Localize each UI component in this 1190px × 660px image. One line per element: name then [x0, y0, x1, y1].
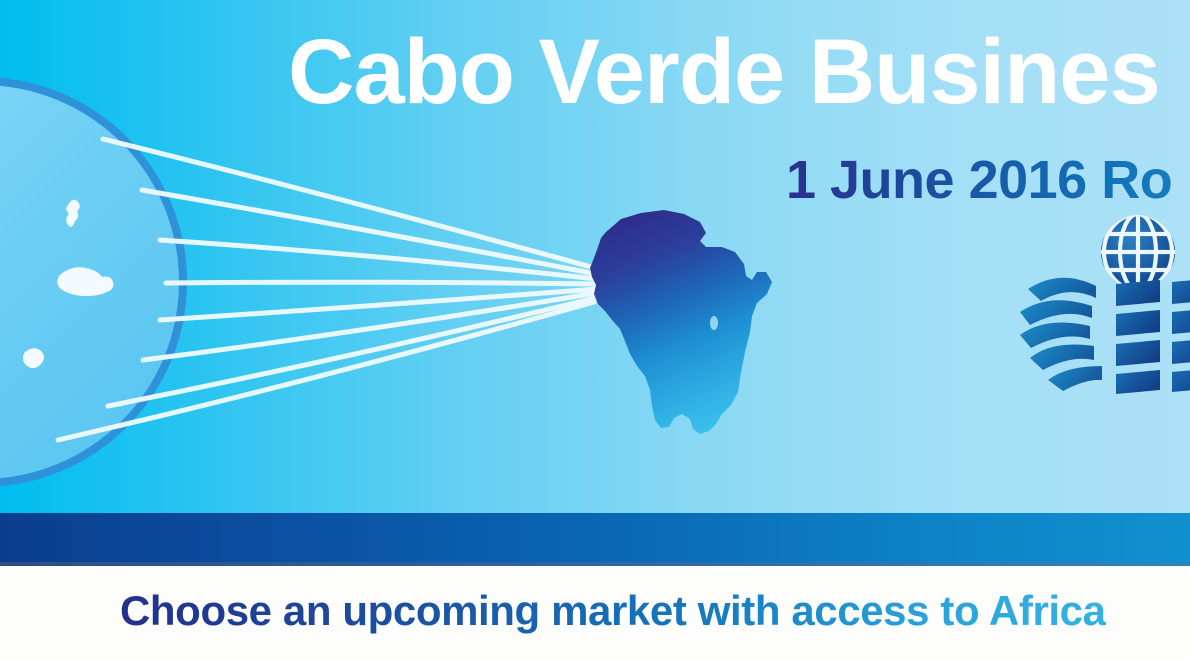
banner-root: Cabo Verde Busines 1 June 2016 Ro Choose… [0, 0, 1190, 660]
africa-map [590, 210, 772, 434]
cabo-verde-islands-circle [0, 77, 187, 487]
hero-artwork [0, 0, 1190, 513]
cii-globe-logo [1020, 212, 1190, 394]
logo-letter-i-1 [1116, 280, 1160, 394]
hero-band: Cabo Verde Busines 1 June 2016 Ro [0, 0, 1190, 513]
globe-icon [1098, 212, 1178, 292]
divider-bar [0, 513, 1190, 562]
bottom-strip: Choose an upcoming market with access to… [0, 566, 1190, 660]
logo-letter-c [1020, 278, 1102, 391]
lake-marker [710, 316, 718, 330]
logo-letter-i-2 [1172, 278, 1190, 392]
banner-tagline: Choose an upcoming market with access to… [120, 588, 1106, 634]
